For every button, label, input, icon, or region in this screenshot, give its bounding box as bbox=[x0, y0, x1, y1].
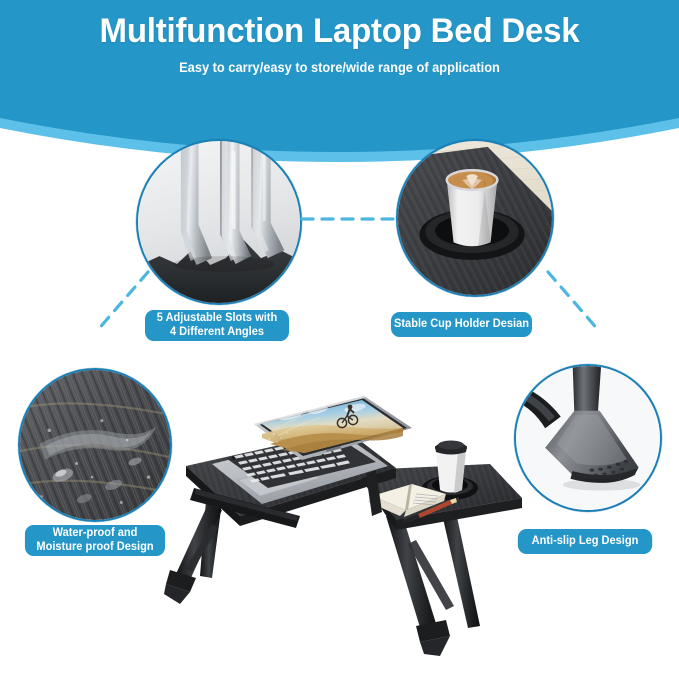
header-banner: Multifunction Laptop Bed Desk Easy to ca… bbox=[0, 0, 679, 185]
callout-circle-anti-slip-leg[interactable] bbox=[514, 364, 662, 512]
label-line-1: Anti-slip Leg Design bbox=[532, 535, 639, 549]
product-photo-laptop-bed-desk bbox=[150, 338, 530, 668]
product-illustration bbox=[150, 338, 530, 668]
callout-label-water-proof: Water-proof and Moisture proof Design bbox=[25, 525, 165, 556]
callout-label-cup-holder: Stable Cup Holder Desian bbox=[391, 312, 532, 337]
callout-label-anti-slip-leg: Anti-slip Leg Design bbox=[518, 529, 652, 554]
label-line-1: 5 Adjustable Slots with bbox=[157, 312, 277, 324]
adjustable-slots-photo bbox=[138, 141, 300, 303]
callout-circle-adjustable-slots[interactable] bbox=[136, 139, 302, 305]
water-proof-photo bbox=[20, 370, 170, 520]
page-subtitle: Easy to carry/easy to store/wide range o… bbox=[17, 60, 662, 75]
cup-holder-photo bbox=[398, 141, 552, 295]
label-line-1: Water-proof and bbox=[53, 527, 138, 539]
label-line-2: 4 Different Angles bbox=[170, 326, 264, 338]
label-line-2: Moisture proof Design bbox=[36, 541, 153, 553]
callout-circle-cup-holder[interactable] bbox=[396, 139, 554, 297]
callout-label-adjustable-slots: 5 Adjustable Slots with 4 Different Angl… bbox=[145, 310, 289, 341]
anti-slip-leg-photo bbox=[516, 366, 660, 510]
label-line-1: Stable Cup Holder Desian bbox=[394, 318, 529, 332]
callout-circle-water-proof[interactable] bbox=[18, 368, 172, 522]
page-title: Multifunction Laptop Bed Desk bbox=[10, 12, 669, 51]
coffee-cup bbox=[435, 441, 467, 494]
infographic-canvas: Multifunction Laptop Bed Desk Easy to ca… bbox=[0, 0, 679, 676]
connector-right-diagonal bbox=[548, 272, 600, 332]
